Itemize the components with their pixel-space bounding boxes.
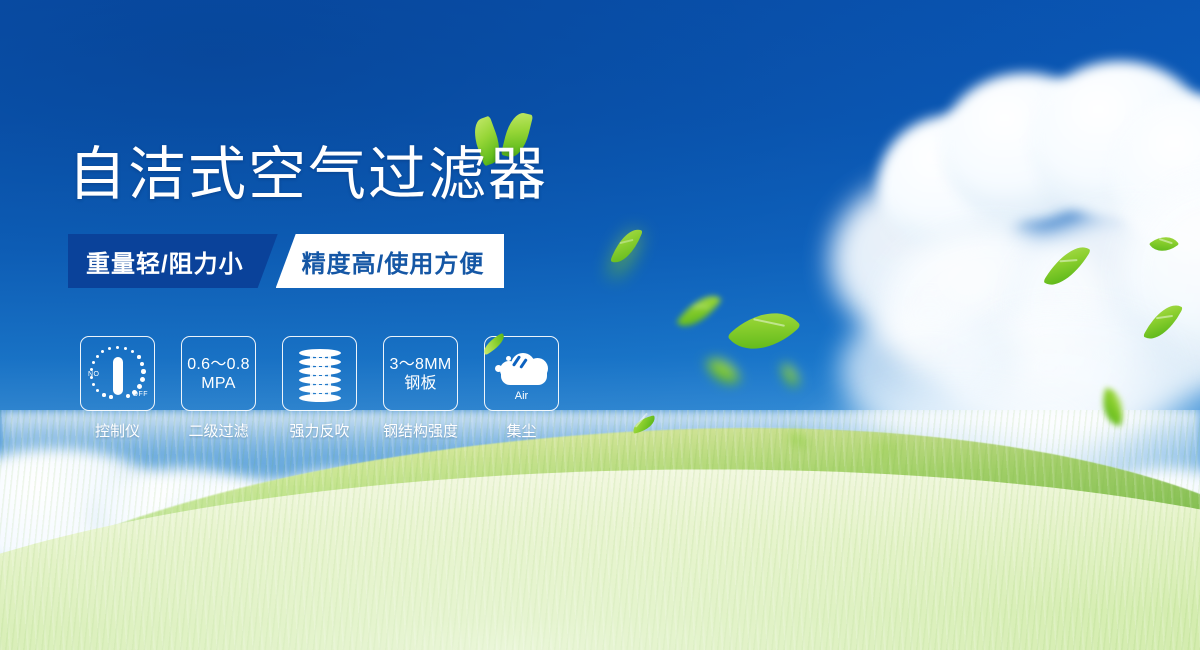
dust-speck-2 [506, 356, 511, 361]
cloud-base [501, 370, 547, 385]
feature-icon-box: 0.6～0.8 MPA [181, 336, 256, 411]
feature-item-two-stage-filtration[interactable]: 0.6～0.8 MPA 二级过滤 [181, 336, 256, 441]
steel-spec-line1: 3～8MM [390, 355, 452, 374]
pressure-value-line1: 0.6～0.8 [187, 355, 250, 374]
page-title: 自洁式空气过滤器 [68, 142, 548, 208]
steel-spec-line2: 钢板 [404, 374, 437, 393]
ground-highlight [0, 460, 1200, 650]
banner-stage: 自洁式空气过滤器 重量轻/阻力小 精度高/使用方便 [0, 0, 1200, 650]
filter-cartridge-icon [283, 337, 356, 410]
gauge-off-label: OFF [133, 391, 149, 398]
subtitle-right-badge: 精度高/使用方便 [276, 234, 505, 288]
cloud-air-icon [495, 353, 550, 385]
feature-icon-box [282, 336, 357, 411]
feature-label: 钢结构强度 [383, 420, 458, 441]
feature-label: 强力反吹 [289, 420, 349, 441]
feature-icon-box: NO OFF [80, 336, 155, 411]
subtitle-left-badge: 重量轻/阻力小 [68, 234, 278, 288]
air-label: Air [485, 390, 558, 402]
feature-icon-box: Air [484, 336, 559, 411]
gauge-needle [113, 357, 123, 395]
feature-label: 二级过滤 [188, 420, 248, 441]
feature-icon-box: 3～8MM 钢板 [383, 336, 458, 411]
feature-item-strong-backblow[interactable]: 强力反吹 [282, 336, 357, 441]
icon-leaf-accent [480, 333, 507, 356]
pressure-value-line2: MPA [201, 374, 235, 393]
feature-label: 控制仪 [95, 420, 140, 441]
dust-speck-1 [495, 365, 502, 372]
feature-list: NO OFF 控制仪 0.6～0.8 MPA 二级过滤 [80, 336, 559, 441]
feature-item-steel-strength[interactable]: 3～8MM 钢板 钢结构强度 [383, 336, 458, 441]
gauge-on-label: NO [88, 371, 100, 378]
feature-label: 集尘 [506, 420, 536, 441]
feature-item-control-instrument[interactable]: NO OFF 控制仪 [80, 336, 155, 441]
feature-item-dust-collection[interactable]: Air 集尘 [484, 336, 559, 441]
gauge-icon: NO OFF [81, 337, 154, 410]
subtitle-bar: 重量轻/阻力小 精度高/使用方便 [68, 234, 504, 288]
grass-field [0, 410, 1200, 650]
